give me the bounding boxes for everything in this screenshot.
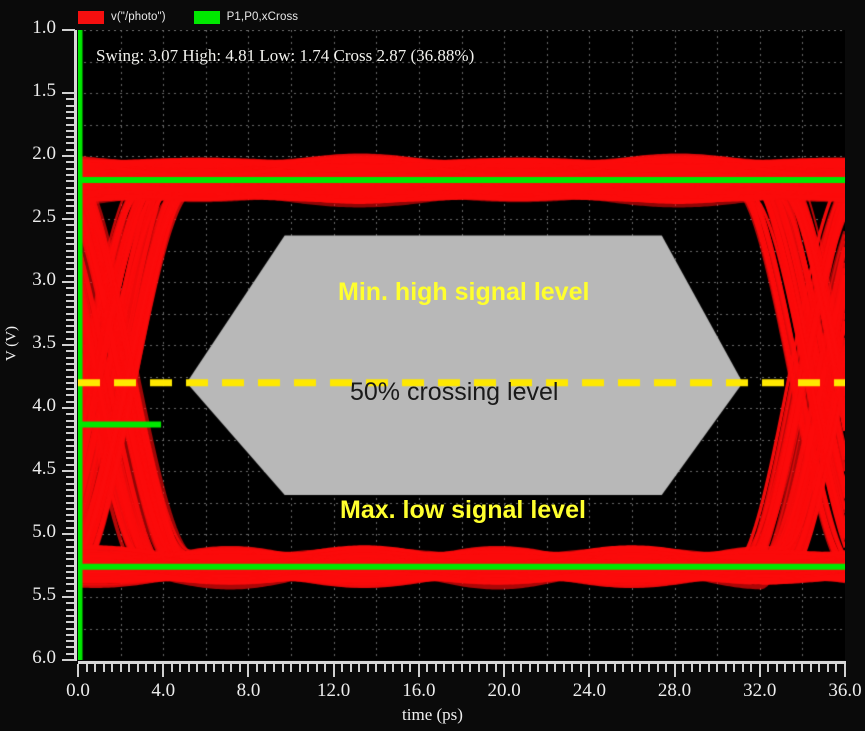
x-tick-major (247, 664, 249, 677)
x-tick-minor (171, 664, 173, 672)
y-tick-minor (66, 514, 74, 516)
y-tick-minor (66, 300, 74, 302)
x-tick-major (503, 664, 505, 677)
y-tick-minor (66, 653, 74, 655)
y-tick-minor (66, 338, 74, 340)
x-tick-minor (529, 664, 531, 672)
y-tick-minor (66, 520, 74, 522)
x-tick-minor (639, 664, 641, 672)
y-tick-minor (66, 388, 74, 390)
x-tick-label: 28.0 (640, 680, 710, 702)
y-tick-minor (66, 445, 74, 447)
x-tick-minor (392, 664, 394, 672)
eye-trace-canvas (78, 30, 845, 660)
x-tick-minor (435, 664, 437, 672)
y-tick-major (62, 470, 75, 472)
x-tick-minor (580, 664, 582, 672)
x-tick-minor (682, 664, 684, 672)
y-tick-minor (66, 325, 74, 327)
x-tick-minor (835, 664, 837, 672)
y-tick-minor (66, 357, 74, 359)
y-tick-minor (66, 502, 74, 504)
x-tick-minor (614, 664, 616, 672)
y-tick-minor (66, 350, 74, 352)
x-tick-label: 0.0 (43, 680, 113, 702)
y-tick-minor (66, 483, 74, 485)
x-tick-minor (665, 664, 667, 672)
y-tick-minor (66, 306, 74, 308)
y-tick-minor (66, 161, 74, 163)
x-tick-minor (554, 664, 556, 672)
y-tick-minor (66, 495, 74, 497)
y-tick-major (62, 218, 75, 220)
y-tick-major (62, 659, 75, 661)
y-tick-label: 1.5 (4, 80, 56, 102)
x-tick-major (418, 664, 420, 677)
x-tick-minor (801, 664, 803, 672)
y-tick-minor (66, 168, 74, 170)
y-tick-major (62, 281, 75, 283)
y-tick-minor (66, 590, 74, 592)
y-tick-minor (66, 212, 74, 214)
legend-label-markers: P1,P0,xCross (227, 11, 299, 23)
y-tick-minor (66, 451, 74, 453)
y-tick-minor (66, 363, 74, 365)
y-tick-minor (66, 539, 74, 541)
annotation-fifty-percent-crossing-level: 50% crossing level (350, 378, 558, 407)
legend-item-photo: v("/photo") (78, 11, 166, 24)
x-tick-minor (213, 664, 215, 672)
y-tick-minor (66, 369, 74, 371)
x-tick-major (844, 664, 846, 677)
y-tick-minor (66, 130, 74, 132)
x-tick-minor (409, 664, 411, 672)
x-tick-minor (443, 664, 445, 672)
y-tick-minor (66, 117, 74, 119)
x-tick-minor (196, 664, 198, 672)
x-tick-minor (316, 664, 318, 672)
x-tick-minor (111, 664, 113, 672)
y-tick-minor (66, 546, 74, 548)
y-tick-minor (66, 149, 74, 151)
x-tick-minor (537, 664, 539, 672)
y-tick-minor (66, 420, 74, 422)
y-tick-major (62, 344, 75, 346)
x-tick-minor (222, 664, 224, 672)
x-tick-minor (750, 664, 752, 672)
x-tick-label: 32.0 (725, 680, 795, 702)
x-tick-minor (128, 664, 130, 672)
x-tick-minor (375, 664, 377, 672)
x-tick-minor (827, 664, 829, 672)
y-tick-minor (66, 331, 74, 333)
y-tick-minor (66, 124, 74, 126)
x-tick-minor (793, 664, 795, 672)
eye-stats-readout: Swing: 3.07 High: 4.81 Low: 1.74 Cross 2… (96, 46, 474, 66)
x-tick-minor (733, 664, 735, 672)
x-tick-minor (708, 664, 710, 672)
x-tick-minor (469, 664, 471, 672)
y-tick-minor (66, 224, 74, 226)
y-tick-minor (66, 413, 74, 415)
x-tick-minor (307, 664, 309, 672)
y-tick-minor (66, 193, 74, 195)
x-tick-major (588, 664, 590, 677)
y-tick-major (62, 29, 75, 31)
x-tick-minor (461, 664, 463, 672)
x-tick-minor (230, 664, 232, 672)
x-tick-minor (299, 664, 301, 672)
x-tick-minor (94, 664, 96, 672)
x-tick-label: 8.0 (213, 680, 283, 702)
x-tick-minor (256, 664, 258, 672)
x-tick-minor (120, 664, 122, 672)
y-tick-minor (66, 432, 74, 434)
y-tick-minor (66, 313, 74, 315)
x-tick-label: 16.0 (384, 680, 454, 702)
x-tick-label: 20.0 (469, 680, 539, 702)
x-tick-minor (324, 664, 326, 672)
y-tick-label: 5.5 (4, 584, 56, 606)
chart-legend: v("/photo") P1,P0,xCross (78, 6, 298, 28)
x-tick-label: 4.0 (128, 680, 198, 702)
y-tick-minor (66, 319, 74, 321)
x-tick-minor (520, 664, 522, 672)
x-tick-minor (384, 664, 386, 672)
x-tick-major (759, 664, 761, 677)
y-tick-label: 5.0 (4, 521, 56, 543)
green-swatch-icon (194, 11, 220, 24)
x-tick-minor (767, 664, 769, 672)
x-tick-minor (742, 664, 744, 672)
y-tick-minor (66, 457, 74, 459)
x-tick-minor (699, 664, 701, 672)
x-tick-minor (597, 664, 599, 672)
y-tick-minor (66, 508, 74, 510)
x-tick-minor (776, 664, 778, 672)
y-tick-minor (66, 382, 74, 384)
y-tick-minor (66, 464, 74, 466)
y-tick-label: 2.0 (4, 143, 56, 165)
x-tick-minor (350, 664, 352, 672)
x-tick-minor (264, 664, 266, 672)
y-tick-minor (66, 174, 74, 176)
legend-item-markers: P1,P0,xCross (194, 11, 299, 24)
x-tick-label: 36.0 (810, 680, 865, 702)
x-tick-minor (341, 664, 343, 672)
y-tick-minor (66, 615, 74, 617)
y-tick-minor (66, 231, 74, 233)
x-tick-minor (810, 664, 812, 672)
x-tick-minor (358, 664, 360, 672)
x-tick-minor (512, 664, 514, 672)
x-tick-minor (657, 664, 659, 672)
y-tick-minor (66, 634, 74, 636)
x-tick-minor (401, 664, 403, 672)
legend-label-photo: v("/photo") (111, 11, 166, 23)
y-axis-title: V (V) (4, 314, 21, 374)
x-tick-major (333, 664, 335, 677)
x-tick-minor (691, 664, 693, 672)
y-tick-minor (66, 426, 74, 428)
y-tick-minor (66, 401, 74, 403)
eye-diagram-screenshot: v("/photo") P1,P0,xCross Swing: 3.07 Hig… (0, 0, 865, 731)
x-tick-minor (563, 664, 565, 672)
y-tick-minor (66, 602, 74, 604)
x-tick-minor (452, 664, 454, 672)
x-tick-minor (179, 664, 181, 672)
y-tick-minor (66, 199, 74, 201)
x-tick-minor (648, 664, 650, 672)
x-tick-minor (282, 664, 284, 672)
x-tick-minor (818, 664, 820, 672)
red-swatch-icon (78, 11, 104, 24)
y-tick-label: 4.5 (4, 458, 56, 480)
y-tick-label: 1.0 (4, 17, 56, 39)
x-tick-major (162, 664, 164, 677)
y-tick-major (62, 596, 75, 598)
y-tick-major (62, 407, 75, 409)
y-tick-minor (66, 256, 74, 258)
y-tick-minor (66, 646, 74, 648)
y-tick-minor (66, 552, 74, 554)
x-tick-minor (273, 664, 275, 672)
y-tick-minor (66, 565, 74, 567)
y-tick-minor (66, 287, 74, 289)
x-tick-minor (546, 664, 548, 672)
x-tick-minor (605, 664, 607, 672)
y-tick-minor (66, 376, 74, 378)
y-tick-minor (66, 577, 74, 579)
y-tick-label: 2.5 (4, 206, 56, 228)
y-tick-minor (66, 142, 74, 144)
y-tick-minor (66, 187, 74, 189)
x-tick-minor (622, 664, 624, 672)
x-axis-title: time (ps) (0, 705, 865, 725)
y-tick-minor (66, 136, 74, 138)
y-tick-minor (66, 439, 74, 441)
x-tick-minor (103, 664, 105, 672)
y-tick-minor (66, 205, 74, 207)
y-tick-minor (66, 243, 74, 245)
y-tick-minor (66, 628, 74, 630)
x-tick-minor (145, 664, 147, 672)
x-tick-minor (571, 664, 573, 672)
x-tick-minor (478, 664, 480, 672)
y-tick-minor (66, 268, 74, 270)
x-tick-minor (188, 664, 190, 672)
y-tick-minor (66, 237, 74, 239)
y-tick-minor (66, 489, 74, 491)
y-tick-minor (66, 621, 74, 623)
x-tick-minor (205, 664, 207, 672)
y-tick-minor (66, 609, 74, 611)
x-tick-minor (784, 664, 786, 672)
x-tick-major (77, 664, 79, 677)
y-tick-minor (66, 105, 74, 107)
x-tick-minor (367, 664, 369, 672)
x-tick-minor (631, 664, 633, 672)
y-tick-minor (66, 98, 74, 100)
x-tick-major (674, 664, 676, 677)
y-tick-major (62, 155, 75, 157)
y-tick-minor (66, 294, 74, 296)
y-tick-minor (66, 394, 74, 396)
x-tick-minor (486, 664, 488, 672)
y-tick-minor (66, 180, 74, 182)
x-tick-minor (716, 664, 718, 672)
y-tick-minor (66, 262, 74, 264)
y-tick-major (62, 533, 75, 535)
plot-area: Swing: 3.07 High: 4.81 Low: 1.74 Cross 2… (78, 30, 845, 660)
y-tick-minor (66, 476, 74, 478)
y-tick-minor (66, 250, 74, 252)
x-tick-minor (154, 664, 156, 672)
y-tick-label: 6.0 (4, 647, 56, 669)
x-tick-label: 12.0 (299, 680, 369, 702)
y-tick-minor (66, 571, 74, 573)
x-tick-minor (137, 664, 139, 672)
y-tick-label: 3.0 (4, 269, 56, 291)
y-tick-minor (66, 640, 74, 642)
x-tick-minor (290, 664, 292, 672)
y-tick-minor (66, 527, 74, 529)
annotation-max-low-signal-level: Max. low signal level (340, 496, 586, 525)
y-tick-minor (66, 558, 74, 560)
x-tick-minor (495, 664, 497, 672)
annotation-min-high-signal-level: Min. high signal level (338, 278, 589, 307)
x-tick-minor (86, 664, 88, 672)
y-tick-minor (66, 275, 74, 277)
y-tick-label: 4.0 (4, 395, 56, 417)
y-tick-minor (66, 583, 74, 585)
x-tick-label: 24.0 (554, 680, 624, 702)
x-tick-minor (426, 664, 428, 672)
y-tick-major (62, 92, 75, 94)
x-tick-minor (239, 664, 241, 672)
x-tick-minor (725, 664, 727, 672)
y-tick-minor (66, 111, 74, 113)
